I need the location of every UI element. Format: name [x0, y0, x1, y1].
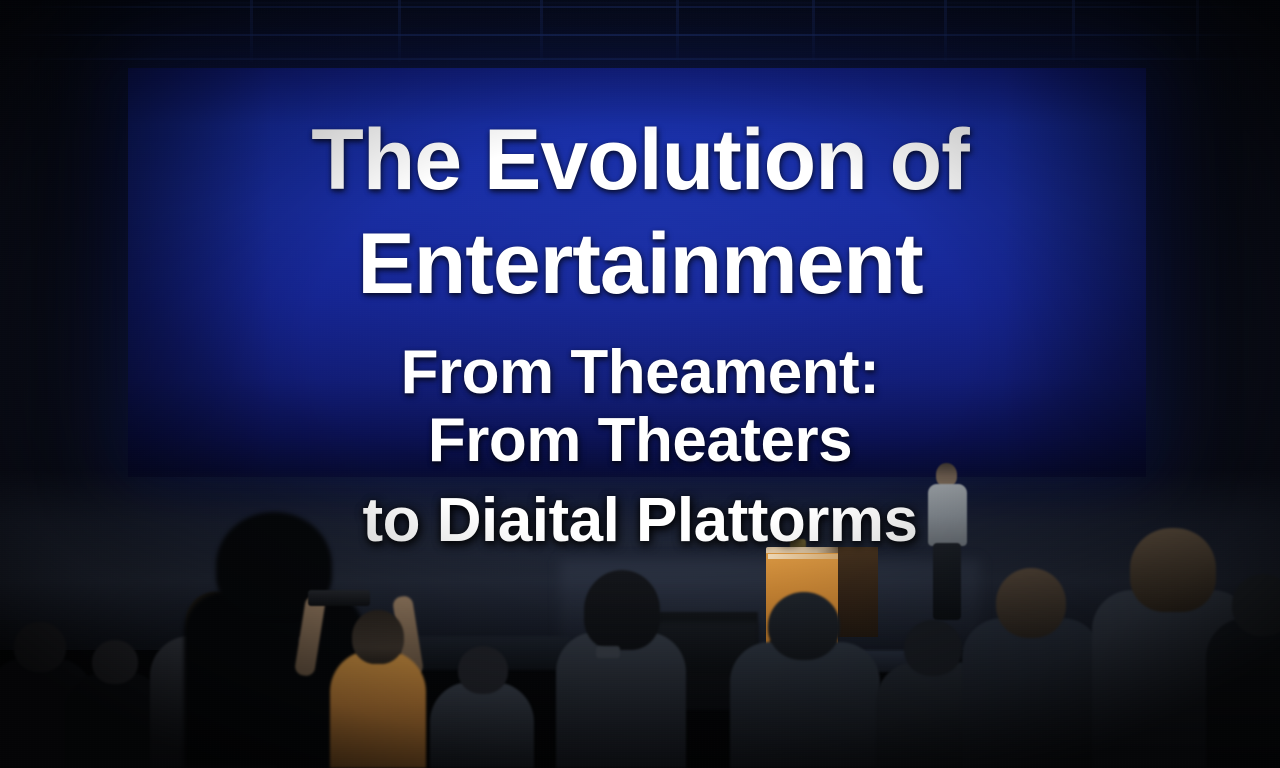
audience-member-head: [584, 570, 660, 650]
audience-member: [1206, 618, 1280, 768]
screen-vignette: [128, 68, 1146, 477]
audience-member-head: [14, 622, 66, 672]
camera-device: [596, 646, 620, 658]
audience-member-with-phone-head: [352, 610, 404, 664]
audience-member-with-phone: [330, 650, 426, 768]
presenter-torso: [928, 484, 967, 546]
audience-member-head: [996, 568, 1066, 638]
podium-lip-highlight: [768, 554, 838, 559]
audience-member-head: [904, 620, 962, 676]
audience-member: [730, 642, 880, 768]
projection-screen: [128, 68, 1146, 477]
audience-member-head: [92, 640, 138, 684]
audience-member: [430, 682, 534, 768]
audience-member-head: [768, 592, 840, 660]
audience-member-head: [1232, 574, 1280, 636]
audience-member-head: [1130, 528, 1216, 612]
audience-member: [556, 632, 686, 768]
audience-group: [0, 560, 1280, 768]
audience-member: [962, 618, 1102, 768]
smartphone: [308, 590, 370, 606]
presentation-scene: The Evolution of Entertainment From Thea…: [0, 0, 1280, 768]
audience-member-head: [458, 646, 508, 694]
